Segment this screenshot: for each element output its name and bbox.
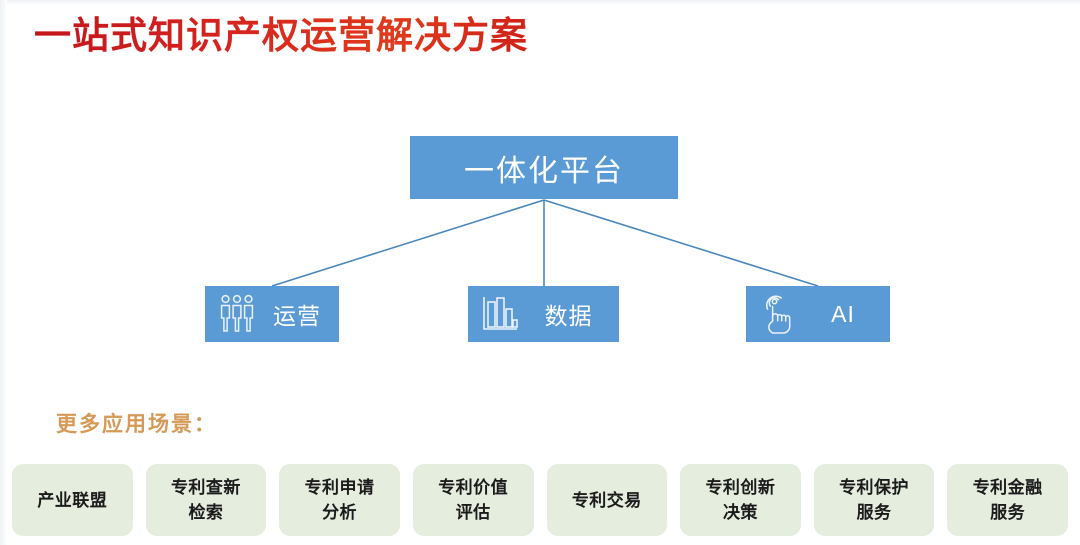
bar-chart-icon (480, 293, 520, 335)
scenario-tag[interactable]: 专利价值 评估 (413, 464, 534, 536)
scenario-tag-line2: 服务 (990, 503, 1025, 522)
scenario-tag-row: 产业联盟 专利查新 检索 专利申请 分析 专利价值 评估 专利交易 (12, 464, 1068, 536)
scenario-tag[interactable]: 专利创新 决策 (680, 464, 801, 536)
scenario-tag-line1: 专利查新 (171, 478, 241, 497)
node-platform-label: 一体化平台 (464, 146, 624, 190)
node-ai-label: AI (814, 301, 878, 328)
scenario-tag[interactable]: 专利查新 检索 (146, 464, 267, 536)
scenario-tag-line2: 服务 (857, 503, 892, 522)
scenario-tag-line2: 分析 (322, 503, 357, 522)
scenario-tag-line2: 评估 (456, 503, 491, 522)
connector-line-right (544, 200, 818, 286)
node-data[interactable]: 数据 (468, 286, 619, 342)
node-integrated-platform[interactable]: 一体化平台 (410, 136, 678, 199)
scenario-tag-line1: 专利价值 (438, 478, 508, 497)
scenario-tag[interactable]: 专利金融 服务 (947, 464, 1068, 536)
scenario-tag[interactable]: 专利交易 (547, 464, 668, 536)
connector-line-left (272, 200, 544, 286)
scenario-tag[interactable]: 专利申请 分析 (279, 464, 400, 536)
node-ai[interactable]: AI (746, 286, 890, 342)
slide-canvas: 一站式知识产权运营解决方案 一体化平台 运营 (0, 0, 1080, 545)
scenario-tag-line2: 检索 (188, 503, 223, 522)
people-group-icon (217, 293, 257, 335)
scenario-tag-line1: 专利申请 (305, 478, 375, 497)
scenario-tag-line1: 专利创新 (705, 478, 775, 497)
more-scenarios-label: 更多应用场景： (56, 408, 217, 438)
scenario-tag-line1: 专利金融 (973, 478, 1043, 497)
scenario-tag[interactable]: 产业联盟 (12, 464, 133, 536)
node-operations-label: 运营 (273, 297, 327, 331)
touch-hand-icon (758, 293, 798, 335)
scenario-tag-line1: 专利交易 (572, 491, 642, 510)
scenario-tag[interactable]: 专利保护 服务 (814, 464, 935, 536)
scenario-tag-line1: 产业联盟 (37, 491, 107, 510)
scenario-tag-line2: 决策 (723, 503, 758, 522)
scenario-tag-line1: 专利保护 (839, 478, 909, 497)
node-operations[interactable]: 运营 (205, 286, 339, 342)
node-data-label: 数据 (536, 297, 607, 331)
